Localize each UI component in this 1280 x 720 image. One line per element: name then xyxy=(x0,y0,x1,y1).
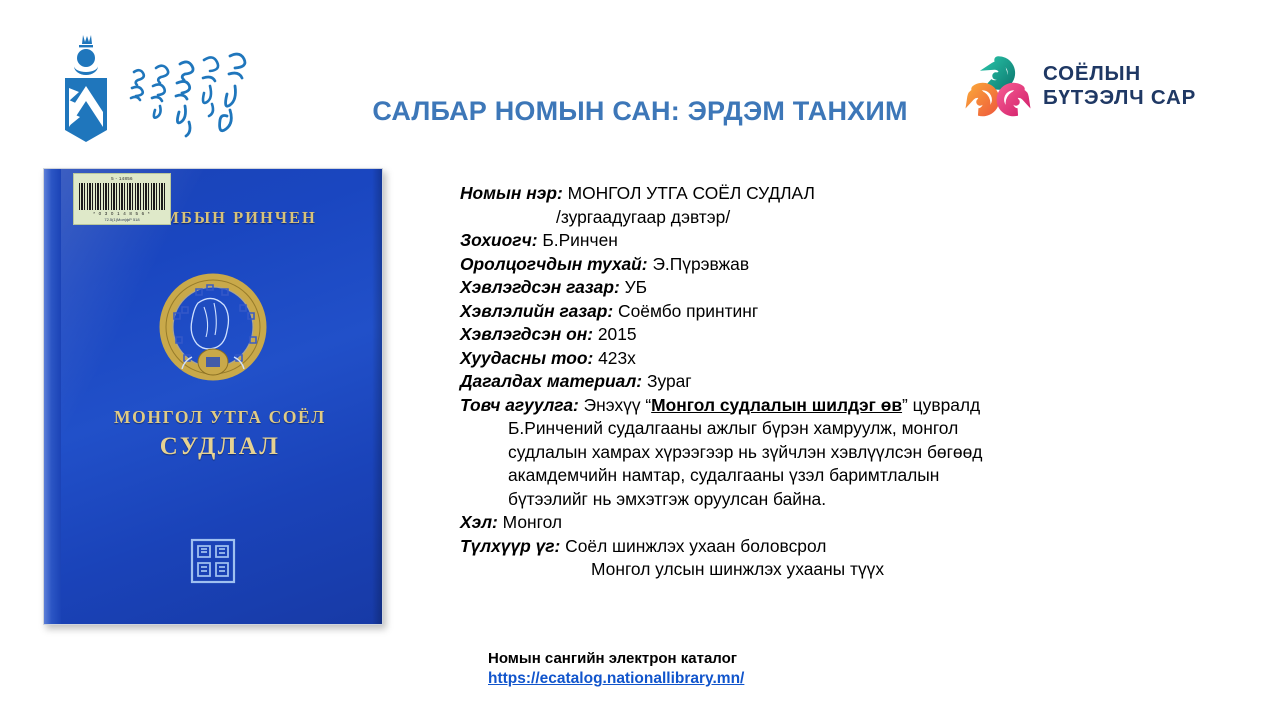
metadata-label-language: Хэл: xyxy=(460,512,498,532)
summary-line-3: акамдемчийн намтар, судалгааны үзэл бари… xyxy=(460,464,1060,488)
campaign-wordmark: СОЁЛЫН БҮТЭЭЛЧ САР xyxy=(1043,62,1196,110)
metadata-row-summary: Товч агуулга: Энэхүү “Монгол судлалын ши… xyxy=(460,394,1060,418)
metadata-label-pages: Хуудасны тоо: xyxy=(460,348,593,368)
book-cover-title-line-1: МОНГОЛ УТГА СОЁЛ xyxy=(58,407,382,428)
triple-spiral-icon xyxy=(965,53,1031,119)
metadata-row-place: Хэвлэгдсэн газар: УБ xyxy=(460,276,1060,300)
metadata-row-publisher: Хэвлэлийн газар: Соёмбо принтинг xyxy=(460,300,1060,324)
metadata-label-place: Хэвлэгдсэн газар: xyxy=(460,277,620,297)
library-barcode-label: 5 - 14856 * 0 3 0 1 4 8 5 6 * 72.5(1)Мон… xyxy=(73,173,171,225)
metadata-value-pages: 423х xyxy=(598,348,636,368)
book-metadata-panel: Номын нэр: МОНГОЛ УТГА СОЁЛ СУДЛАЛ /зург… xyxy=(460,182,1060,582)
summary-line-2: судлалын хамрах хүрээгээр нь зүйчлэн хэв… xyxy=(460,441,1060,465)
metadata-value-place: УБ xyxy=(625,277,647,297)
metadata-row-author: Зохиогч: Б.Ринчен xyxy=(460,229,1060,253)
catalog-link[interactable]: https://ecatalog.nationallibrary.mn/ xyxy=(488,670,744,688)
footer: Номын сангийн электрон каталог https://e… xyxy=(488,650,908,688)
mongolian-script-wordmark xyxy=(131,54,245,136)
metadata-label-keywords: Түлхүүр үг: xyxy=(460,536,560,556)
summary-after-series: ” цувралд xyxy=(902,395,980,415)
summary-series-name: Монгол судлалын шилдэг өв xyxy=(651,395,902,415)
metadata-label-contributors: Оролцогчдын тухай: xyxy=(460,254,648,274)
metadata-value-language: Монгол xyxy=(503,512,562,532)
barcode-bars xyxy=(79,183,165,210)
metadata-row-keywords: Түлхүүр үг: Соёл шинжлэх ухаан боловсрол xyxy=(460,535,1060,559)
metadata-label-summary: Товч агуулга: xyxy=(460,395,579,415)
summary-line-4: бүтээлийг нь эмхэтгэж оруулсан байна. xyxy=(460,488,1060,512)
page-title: САЛБАР НОМЫН САН: ЭРДЭМ ТАНХИМ xyxy=(330,96,950,127)
footer-caption: Номын сангийн электрон каталог xyxy=(488,650,908,667)
summary-line-1: Б.Ринчений судалгааны ажлыг бүрэн хамруу… xyxy=(460,417,1060,441)
metadata-title-continuation: /зургаадугаар дэвтэр/ xyxy=(460,206,1060,230)
metadata-label-publisher: Хэвлэлийн газар: xyxy=(460,301,613,321)
metadata-value-author: Б.Ринчен xyxy=(542,230,618,250)
metadata-keyword-line-1: Соёл шинжлэх ухаан боловсрол xyxy=(565,536,826,556)
barcode-top-text: 5 - 14856 xyxy=(77,176,167,182)
slide-canvas: САЛБАР НОМЫН САН: ЭРДЭМ ТАНХИМ xyxy=(0,0,1280,720)
metadata-row-title: Номын нэр: МОНГОЛ УТГА СОЁЛ СУДЛАЛ xyxy=(460,182,1060,206)
metadata-value-supplement: Зураг xyxy=(647,371,692,391)
book-edge-shadow xyxy=(372,169,382,624)
campaign-line-2: БҮТЭЭЛЧ САР xyxy=(1043,86,1196,110)
library-emblem-logo xyxy=(52,28,277,163)
book-cover-title-block: МОНГОЛ УТГА СОЁЛ СУДЛАЛ xyxy=(44,407,382,461)
campaign-logo: СОЁЛЫН БҮТЭЭЛЧ САР xyxy=(965,50,1205,122)
metadata-value-publisher: Соёмбо принтинг xyxy=(618,301,758,321)
barcode-call-number: 72.5(1)Мон|фР 518 xyxy=(77,217,167,223)
book-cover-image: БЯМБЫН РИНЧЕН МОНГОЛ УТГА СОЁЛ СУДЛАЛ xyxy=(43,168,383,625)
book-cover-title-line-2: СУДЛАЛ xyxy=(58,433,382,461)
metadata-value-title: МОНГОЛ УТГА СОЁЛ СУДЛАЛ xyxy=(568,183,815,203)
barcode-number: * 0 3 0 1 4 8 5 6 * xyxy=(77,210,167,217)
campaign-line-1: СОЁЛЫН xyxy=(1043,62,1196,86)
metadata-row-supplement: Дагалдах материал: Зураг xyxy=(460,370,1060,394)
metadata-label-title: Номын нэр: xyxy=(460,183,563,203)
metadata-row-contributors: Оролцогчдын тухай: Э.Пүрэвжав xyxy=(460,253,1060,277)
metadata-row-year: Хэвлэгдсэн он: 2015 xyxy=(460,323,1060,347)
metadata-keyword-line-2: Монгол улсын шинжлэх ухааны түүх xyxy=(460,558,1060,582)
metadata-value-contributors: Э.Пүрэвжав xyxy=(652,254,749,274)
metadata-value-year: 2015 xyxy=(598,324,637,344)
metadata-label-supplement: Дагалдах материал: xyxy=(460,371,642,391)
publisher-seal-icon xyxy=(189,537,237,589)
metadata-label-year: Хэвлэгдсэн он: xyxy=(460,324,593,344)
book-spine xyxy=(44,169,61,624)
summary-intro: Энэхүү “ xyxy=(584,395,652,415)
metadata-row-pages: Хуудасны тоо: 423х xyxy=(460,347,1060,371)
metadata-row-language: Хэл: Монгол xyxy=(460,511,1060,535)
metadata-label-author: Зохиогч: xyxy=(460,230,538,250)
book-medallion-icon xyxy=(152,269,274,391)
